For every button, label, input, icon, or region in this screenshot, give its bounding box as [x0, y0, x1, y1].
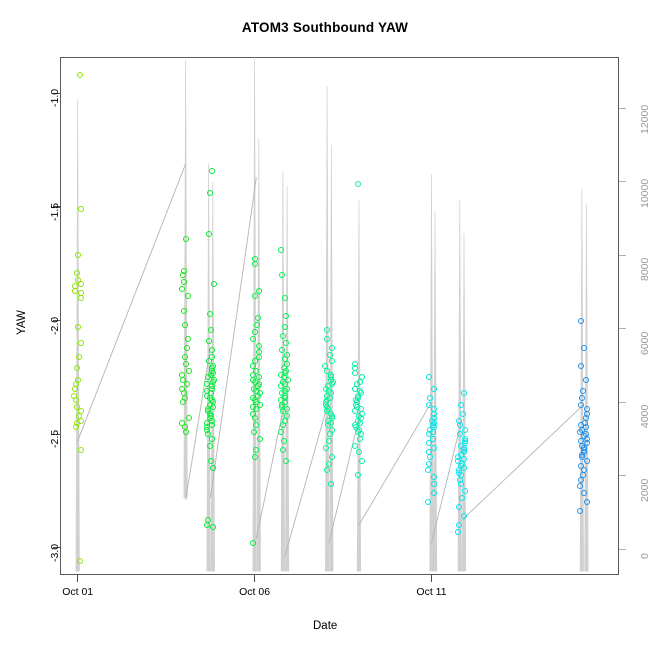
scatter-point — [282, 295, 288, 301]
scatter-point — [324, 336, 330, 342]
scatter-point — [431, 386, 437, 392]
scatter-point — [431, 481, 437, 487]
scatter-point — [209, 436, 215, 442]
connector-line — [359, 402, 432, 525]
y-tick-label: -1.0 — [49, 89, 61, 107]
scatter-point — [78, 295, 84, 301]
spike-line — [584, 204, 588, 571]
scatter-point — [207, 190, 213, 196]
chart-root: ATOM3 Southbound YAW -1.0-1.5-2.0-2.5-3.… — [0, 0, 650, 650]
scatter-point — [252, 261, 258, 267]
scatter-point — [455, 529, 461, 535]
scatter-point — [283, 313, 289, 319]
y-tick-label: -2.0 — [49, 316, 61, 334]
scatter-point — [326, 461, 332, 467]
connector-line — [210, 177, 256, 497]
scatter-point — [578, 363, 584, 369]
scatter-point — [580, 388, 586, 394]
y2-tick-mark — [619, 328, 626, 329]
y-tick-label: -1.5 — [49, 203, 61, 221]
scatter-point — [182, 354, 188, 360]
scatter-point — [578, 318, 584, 324]
plot-data-layer — [60, 57, 619, 575]
scatter-point — [253, 447, 259, 453]
y2-tick-label: 12000 — [639, 105, 650, 134]
scatter-point — [456, 504, 462, 510]
y-tick-label: -3.0 — [49, 544, 61, 562]
y2-tick-label: 10000 — [639, 179, 650, 208]
scatter-point — [326, 438, 332, 444]
chart-title: ATOM3 Southbound YAW — [0, 20, 650, 35]
spike-line — [76, 99, 80, 571]
scatter-point — [459, 495, 465, 501]
scatter-point — [352, 443, 358, 449]
scatter-point — [457, 422, 463, 428]
scatter-point — [183, 361, 189, 367]
scatter-point — [581, 345, 587, 351]
scatter-point — [581, 490, 587, 496]
scatter-point — [207, 311, 213, 317]
scatter-point — [279, 347, 285, 353]
y2-tick-mark — [619, 108, 626, 109]
scatter-point — [583, 377, 589, 383]
y2-tick-mark — [619, 402, 626, 403]
scatter-point — [78, 206, 84, 212]
scatter-point — [75, 324, 81, 330]
connector-line — [329, 418, 359, 543]
y2-tick-label: 2000 — [639, 478, 650, 501]
scatter-point — [209, 168, 215, 174]
scatter-point — [578, 477, 584, 483]
scatter-point — [209, 422, 215, 428]
y2-tick-mark — [619, 475, 626, 476]
scatter-point — [209, 347, 215, 353]
y-axis-title: YAW — [16, 310, 28, 335]
scatter-point — [458, 481, 464, 487]
scatter-point — [327, 352, 333, 358]
scatter-point — [73, 424, 79, 430]
y2-tick-mark — [619, 181, 626, 182]
scatter-point — [185, 293, 191, 299]
x-tick-mark — [431, 575, 432, 582]
scatter-point — [76, 354, 82, 360]
scatter-point — [77, 72, 83, 78]
scatter-point — [329, 454, 335, 460]
scatter-point — [357, 436, 363, 442]
spike-lines-group — [76, 57, 589, 571]
y2-tick-label: 0 — [639, 553, 650, 559]
data-overlay-svg — [60, 57, 619, 575]
scatter-point — [75, 252, 81, 258]
x-tick-label: Oct 06 — [235, 586, 275, 598]
y2-tick-mark — [619, 255, 626, 256]
scatter-point — [208, 327, 214, 333]
x-tick-mark — [77, 575, 78, 582]
scatter-point — [427, 395, 433, 401]
scatter-point — [427, 454, 433, 460]
scatter-point — [283, 340, 289, 346]
scatter-point — [206, 338, 212, 344]
scatter-point — [186, 368, 192, 374]
connector-line — [462, 405, 584, 521]
x-axis-title: Date — [313, 620, 337, 632]
scatter-point — [182, 322, 188, 328]
y-tick-label: -2.5 — [49, 430, 61, 448]
scatter-point — [461, 513, 467, 519]
connector-line — [78, 164, 186, 441]
spike-line — [252, 57, 256, 571]
scatter-point — [179, 286, 185, 292]
y2-tick-label: 8000 — [639, 258, 650, 281]
connector-line — [285, 400, 329, 557]
y2-tick-label: 6000 — [639, 331, 650, 354]
scatter-point — [252, 293, 258, 299]
x-tick-label: Oct 01 — [58, 586, 98, 598]
scatter-point — [180, 399, 186, 405]
scatter-point — [329, 345, 335, 351]
scatter-point — [461, 390, 467, 396]
scatter-point — [257, 436, 263, 442]
x-tick-mark — [254, 575, 255, 582]
y2-tick-label: 4000 — [639, 405, 650, 428]
x-tick-label: Oct 11 — [411, 586, 451, 598]
scatter-point — [207, 443, 213, 449]
spike-line — [429, 175, 433, 572]
scatter-point — [456, 522, 462, 528]
y2-tick-mark — [619, 549, 626, 550]
scatter-point — [323, 445, 329, 451]
scatter-point — [181, 279, 187, 285]
scatter-point — [460, 411, 466, 417]
scatter-point — [256, 343, 262, 349]
scatter-point — [72, 288, 78, 294]
scatter-point — [579, 395, 585, 401]
scatter-point — [426, 461, 432, 467]
